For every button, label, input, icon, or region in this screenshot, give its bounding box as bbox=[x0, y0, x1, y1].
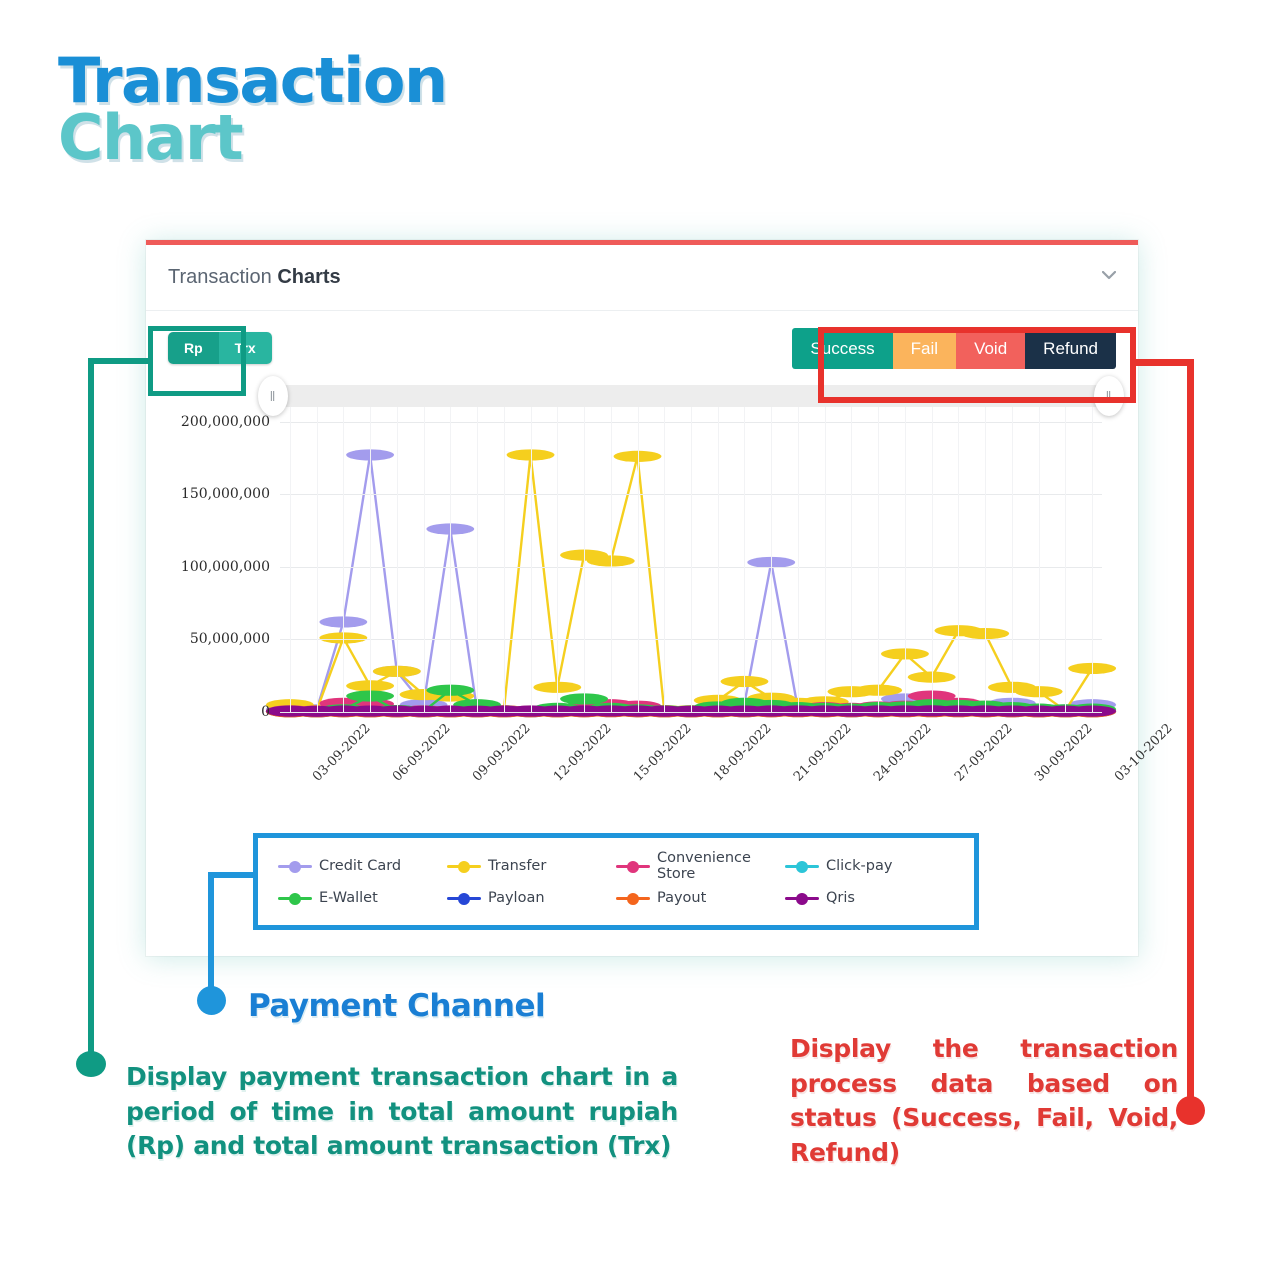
chart-x-tick-label: 27-09-2022 bbox=[952, 721, 1016, 785]
chart-vertical-gridline bbox=[1092, 407, 1093, 712]
legend-label: Payout bbox=[657, 890, 706, 906]
chart-vertical-gridline bbox=[932, 407, 933, 712]
annotation-left-text: Display payment transaction chart in a p… bbox=[126, 1060, 678, 1164]
legend-label: Transfer bbox=[488, 858, 546, 874]
chart-x-tick-label: 18-09-2022 bbox=[711, 721, 775, 785]
chart-vertical-gridline bbox=[985, 407, 986, 712]
connector-blue-horizontal bbox=[208, 872, 258, 878]
chart-vertical-gridline bbox=[1039, 407, 1040, 712]
chart-plot: 050,000,000100,000,000150,000,000200,000… bbox=[280, 407, 1102, 713]
chart-x-tick-label: 24-09-2022 bbox=[871, 721, 935, 785]
legend-label: Credit Card bbox=[319, 858, 401, 874]
legend-label: Payloan bbox=[488, 890, 545, 906]
chart-vertical-gridline bbox=[504, 407, 505, 712]
card-title-prefix: Transaction bbox=[168, 266, 277, 288]
chart-y-tick-label: 50,000,000 bbox=[190, 631, 270, 647]
connector-red-dot bbox=[1176, 1096, 1205, 1125]
callout-box-status-filter bbox=[818, 327, 1136, 403]
chart-vertical-gridline bbox=[370, 407, 371, 712]
annotation-right-text: Display the transaction process data bas… bbox=[790, 1032, 1178, 1170]
chart-vertical-gridline bbox=[290, 407, 291, 712]
chart-x-tick-label: 30-09-2022 bbox=[1032, 721, 1096, 785]
chart-vertical-gridline bbox=[1012, 407, 1013, 712]
annotation-payment-channel-heading: Payment Channel bbox=[248, 988, 545, 1024]
chart-vertical-gridline bbox=[744, 407, 745, 712]
chart-vertical-gridline bbox=[878, 407, 879, 712]
chart-vertical-gridline bbox=[531, 407, 532, 712]
connector-red-horizontal bbox=[1131, 359, 1194, 366]
chart-vertical-gridline bbox=[317, 407, 318, 712]
chart-x-tick-label: 03-09-2022 bbox=[310, 721, 374, 785]
legend-marker-icon bbox=[616, 892, 650, 904]
chart-vertical-gridline bbox=[584, 407, 585, 712]
connector-blue-dot bbox=[197, 986, 226, 1015]
chart-vertical-gridline bbox=[450, 407, 451, 712]
chart-vertical-gridline bbox=[424, 407, 425, 712]
legend-item-convenience-store[interactable]: Convenience Store bbox=[616, 850, 785, 882]
legend-label: E-Wallet bbox=[319, 890, 378, 906]
connector-teal-horizontal bbox=[88, 358, 150, 364]
chart-x-tick-label: 03-10-2022 bbox=[1112, 721, 1176, 785]
chart-vertical-gridline bbox=[825, 407, 826, 712]
chart-vertical-gridline bbox=[798, 407, 799, 712]
chart-vertical-gridline bbox=[664, 407, 665, 712]
legend-marker-icon bbox=[278, 892, 312, 904]
legend-label: Click-pay bbox=[826, 858, 892, 874]
chart-area: ‖ ‖ 050,000,000100,000,000150,000,000200… bbox=[146, 385, 1138, 791]
chart-vertical-gridline bbox=[1065, 407, 1066, 712]
legend-marker-icon bbox=[447, 892, 481, 904]
legend-item-payout[interactable]: Payout bbox=[616, 890, 785, 906]
chart-x-tick-label: 09-09-2022 bbox=[470, 721, 534, 785]
chart-y-tick-label: 0 bbox=[261, 704, 270, 720]
chart-vertical-gridline bbox=[557, 407, 558, 712]
chart-x-tick-label: 15-09-2022 bbox=[631, 721, 695, 785]
chart-vertical-gridline bbox=[771, 407, 772, 712]
legend-label: Qris bbox=[826, 890, 855, 906]
chart-y-tick-label: 150,000,000 bbox=[181, 486, 270, 502]
chart-y-tick-label: 100,000,000 bbox=[181, 559, 270, 575]
chart-y-tick-label: 200,000,000 bbox=[181, 414, 270, 430]
chart-legend[interactable]: Credit CardTransferConvenience StoreClic… bbox=[253, 833, 979, 930]
chart-vertical-gridline bbox=[638, 407, 639, 712]
connector-red-vertical bbox=[1187, 359, 1194, 1111]
chart-x-tick-label: 21-09-2022 bbox=[791, 721, 855, 785]
card-header: Transaction Charts bbox=[146, 245, 1138, 311]
connector-teal-dot bbox=[76, 1051, 106, 1077]
chart-vertical-gridline bbox=[343, 407, 344, 712]
legend-marker-icon bbox=[785, 892, 819, 904]
page-title-line2: Chart bbox=[58, 109, 447, 166]
legend-item-click-pay[interactable]: Click-pay bbox=[785, 858, 954, 874]
chart-x-tick-label: 06-09-2022 bbox=[390, 721, 454, 785]
legend-item-payloan[interactable]: Payloan bbox=[447, 890, 616, 906]
chart-x-axis: 03-09-202206-09-202209-09-202212-09-2022… bbox=[280, 713, 1102, 791]
legend-marker-icon bbox=[447, 860, 481, 872]
chart-vertical-gridline bbox=[397, 407, 398, 712]
page-title: Transaction Chart bbox=[58, 52, 447, 166]
chart-vertical-gridline bbox=[958, 407, 959, 712]
chart-vertical-gridline bbox=[477, 407, 478, 712]
legend-item-qris[interactable]: Qris bbox=[785, 890, 954, 906]
chart-vertical-gridline bbox=[851, 407, 852, 712]
card-title-bold: Charts bbox=[277, 266, 340, 288]
chart-vertical-gridline bbox=[611, 407, 612, 712]
connector-teal-vertical bbox=[88, 358, 94, 1058]
legend-item-credit-card[interactable]: Credit Card bbox=[278, 858, 447, 874]
legend-label: Convenience Store bbox=[657, 850, 785, 882]
legend-item-e-wallet[interactable]: E-Wallet bbox=[278, 890, 447, 906]
chart-x-tick-label: 12-09-2022 bbox=[550, 721, 614, 785]
legend-item-transfer[interactable]: Transfer bbox=[447, 858, 616, 874]
chart-vertical-gridline bbox=[905, 407, 906, 712]
legend-marker-icon bbox=[278, 860, 312, 872]
connector-blue-vertical bbox=[208, 872, 214, 994]
legend-marker-icon bbox=[616, 860, 650, 872]
card-title: Transaction Charts bbox=[168, 266, 341, 289]
chart-vertical-gridline bbox=[691, 407, 692, 712]
chart-vertical-gridline bbox=[718, 407, 719, 712]
chevron-down-icon[interactable] bbox=[1102, 267, 1116, 276]
callout-box-unit-toggle bbox=[148, 326, 246, 396]
legend-marker-icon bbox=[785, 860, 819, 872]
